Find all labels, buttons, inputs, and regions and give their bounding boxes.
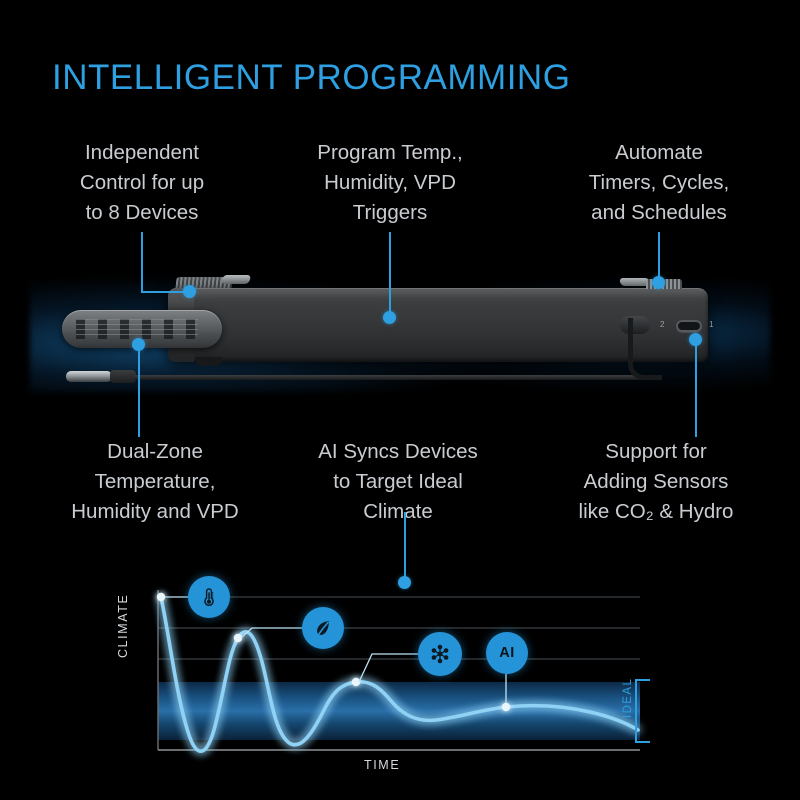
callout-line: Program Temp.,: [290, 138, 490, 168]
callout-independent-control: Independent Control for up to 8 Devices: [42, 138, 242, 228]
callout-line: Humidity and VPD: [50, 497, 260, 527]
infographic-canvas: INTELLIGENT PROGRAMMING Independent Cont…: [0, 0, 800, 800]
callout-line: to Target Ideal: [296, 467, 500, 497]
chart-ideal-band-label: IDEAL: [622, 678, 634, 718]
callout-dual-zone-sensing: Dual-Zone Temperature, Humidity and VPD: [50, 437, 260, 527]
thermometer-glyph: [198, 586, 220, 608]
callout-line: Adding Sensors: [546, 467, 766, 497]
callout-sensor-support: Support for Adding Sensors like CO₂ & Hy…: [546, 437, 766, 527]
callout-automate-schedules: Automate Timers, Cycles, and Schedules: [556, 138, 762, 228]
connector-line-independent-vertical: [141, 232, 143, 292]
connector-dot-automate-schedules: [652, 276, 665, 289]
callout-line: Timers, Cycles,: [556, 168, 762, 198]
fan-glyph: [428, 642, 452, 666]
callout-line: Dual-Zone: [50, 437, 260, 467]
chart-x-axis-label: TIME: [364, 758, 400, 772]
usb-c-sensor-port[interactable]: [676, 320, 702, 332]
marker-point-humidity: [234, 634, 242, 642]
marker-point-ai-sync: [502, 703, 510, 711]
connector-line-program-vertical: [389, 232, 391, 317]
chart-y-axis-label: CLIMATE: [116, 594, 130, 658]
callout-line: and Schedules: [556, 198, 762, 228]
callout-line: Control for up: [42, 168, 242, 198]
humidity-leaf-icon[interactable]: [302, 607, 344, 649]
connector-line-automate-vertical: [658, 232, 660, 282]
ai-badge-label: AI: [499, 645, 515, 661]
callout-line: Triggers: [290, 198, 490, 228]
connector-dot-dual-zone: [132, 338, 145, 351]
ai-badge[interactable]: AI: [486, 632, 528, 674]
probe-sleeve: [110, 370, 136, 383]
callout-program-triggers: Program Temp., Humidity, VPD Triggers: [290, 138, 490, 228]
sensor-vent-rows: [76, 319, 198, 339]
page-title: INTELLIGENT PROGRAMMING: [52, 58, 570, 98]
connector-dot-program-triggers: [383, 311, 396, 324]
port-cord: [628, 318, 662, 380]
callout-line: Temperature,: [50, 467, 260, 497]
port-number-2-glyph: 2: [660, 321, 664, 329]
connector-dot-sensor-support: [689, 333, 702, 346]
climate-response-chart: CLIMATE TIME IDEAL: [120, 562, 680, 792]
connector-dot-independent-control: [183, 285, 196, 298]
callout-line: Climate: [296, 497, 500, 527]
port-number-1-glyph: 1: [709, 321, 713, 329]
connector-line-dualzone-vertical: [138, 345, 140, 437]
callout-line: AI Syncs Devices: [296, 437, 500, 467]
humidity-leaf-glyph: [312, 617, 334, 639]
callout-line: Automate: [556, 138, 762, 168]
probe-cable: [134, 375, 654, 380]
callout-line: like CO₂ & Hydro: [546, 497, 766, 527]
callout-line: to 8 Devices: [42, 198, 242, 228]
callout-line: Support for: [546, 437, 766, 467]
callout-line: Independent: [42, 138, 242, 168]
connector-line-independent-horizontal: [141, 291, 189, 293]
temperature-probe-tip: [66, 371, 112, 382]
device-top-connector-cap: [221, 275, 252, 284]
marker-point-temperature: [157, 593, 165, 601]
fan-icon[interactable]: [418, 632, 462, 676]
thermometer-icon[interactable]: [188, 576, 230, 618]
callout-line: Humidity, VPD: [290, 168, 490, 198]
marker-point-circulation: [352, 678, 360, 686]
device-foot: [196, 357, 222, 366]
connector-line-sensorsupport-vertical: [695, 340, 697, 437]
callout-ai-sync-climate: AI Syncs Devices to Target Ideal Climate: [296, 437, 500, 527]
